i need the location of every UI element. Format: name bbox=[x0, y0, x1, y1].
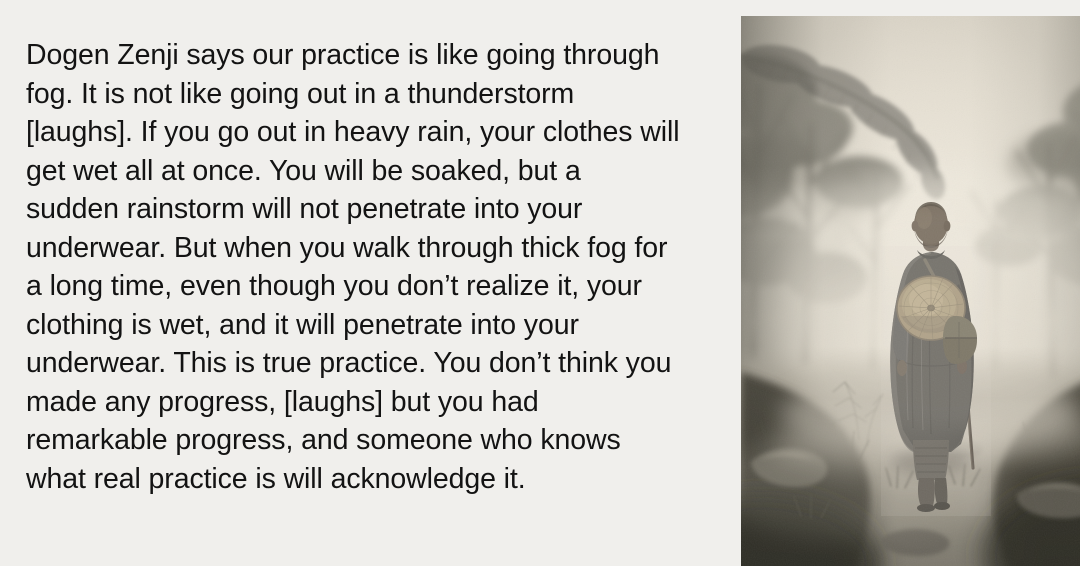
foggy-path-scene-svg bbox=[741, 16, 1080, 566]
canvas-grain bbox=[741, 16, 1080, 566]
illustration-monk-walking-in-fog bbox=[741, 16, 1080, 566]
quote-card: Dogen Zenji says our practice is like go… bbox=[0, 0, 1080, 566]
quote-panel: Dogen Zenji says our practice is like go… bbox=[0, 0, 701, 566]
quote-text: Dogen Zenji says our practice is like go… bbox=[26, 36, 681, 498]
